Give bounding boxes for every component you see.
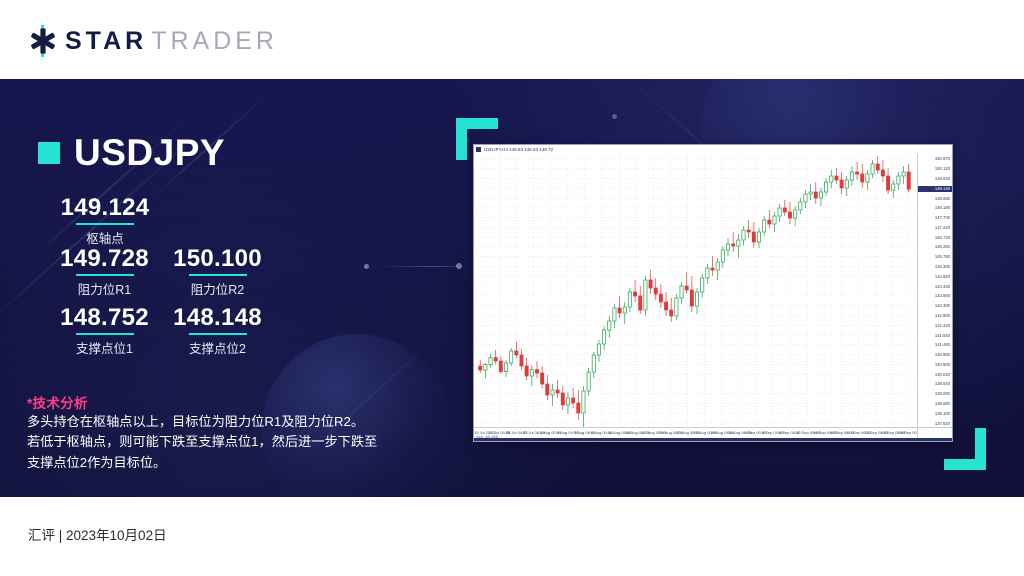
logo-accent-dot-bottom (41, 54, 44, 57)
page-header: STAR TRADER (0, 0, 1024, 79)
footer-text: 汇评 | 2023年10月02日 (28, 524, 167, 544)
price-tick-label: 143.380 (935, 303, 950, 308)
r2-label: 阻力位R2 (155, 279, 280, 298)
price-tick-label: 144.820 (935, 274, 950, 279)
brand-name-bold: STAR (65, 27, 147, 56)
chart-bottom-bar (474, 438, 952, 441)
candlestick-plot[interactable] (474, 154, 918, 428)
analysis-line-3: 支撑点位2作为目标位。 (27, 453, 407, 473)
price-tick-label: 138.100 (935, 411, 950, 416)
decor-line (378, 266, 470, 267)
current-price-value: 149.140 (935, 186, 950, 192)
level-resistance-2: 150.100 阻力位R2 (155, 246, 280, 298)
chart-title-text: USDJPY,H4 148.63 148.83 148.72 (484, 145, 553, 154)
price-tick-label: 142.900 (935, 313, 950, 318)
price-tick-label: 142.420 (935, 323, 950, 328)
r2-underline (189, 274, 247, 276)
price-tick-label: 145.300 (935, 264, 950, 269)
price-tick-label: 143.860 (935, 293, 950, 298)
r1-label: 阻力位R1 (42, 279, 167, 298)
s1-underline (76, 333, 134, 335)
r1-value: 149.728 (42, 246, 167, 271)
price-tick-label: 150.670 (935, 156, 950, 161)
price-tick-label: 149.640 (935, 176, 950, 181)
candlestick-svg (474, 154, 918, 428)
analysis-line-2: 若低于枢轴点，则可能下跌至支撑点位1，然后进一步下跌至 (27, 432, 407, 452)
price-tick-label: 139.060 (935, 391, 950, 396)
level-support-1: 148.752 支撑点位1 (42, 305, 167, 357)
currency-pair-heading: USDJPY (38, 134, 225, 171)
price-tick-label: 140.500 (935, 362, 950, 367)
analysis-body: 多头持仓在枢轴点以上，目标位为阻力位R1及阻力位R2。 若低于枢轴点，则可能下跌… (27, 412, 407, 473)
chart-titlebar: USDJPY,H4 148.63 148.83 148.72 (474, 145, 952, 154)
page-footer: 汇评 | 2023年10月02日 (0, 497, 1024, 576)
pair-symbol: USDJPY (74, 134, 225, 171)
level-pivot: 149.124 枢轴点 (50, 195, 160, 247)
brand-wordmark: STAR TRADER (65, 27, 278, 56)
bracket-arm-vertical (975, 428, 986, 470)
chart-body: 150.670150.120149.640149.160148.680148.1… (474, 154, 952, 441)
price-tick-label: 141.460 (935, 342, 950, 347)
slide-root: STAR TRADER USDJPY 149.124 枢轴点 149.728 阻 (0, 0, 1024, 576)
s2-value: 148.148 (155, 305, 280, 330)
current-price-tag: 149.140 (918, 186, 952, 192)
price-tick-label: 144.340 (935, 284, 950, 289)
price-tick-label: 146.740 (935, 235, 950, 240)
price-tick-label: 141.940 (935, 333, 950, 338)
price-tick-label: 145.780 (935, 254, 950, 259)
price-tick-label: 150.120 (935, 166, 950, 171)
pivot-underline (76, 223, 134, 225)
pair-marker-square (38, 142, 60, 164)
s2-label: 支撑点位2 (155, 338, 280, 357)
price-tick-label: 138.580 (935, 401, 950, 406)
level-support-2: 148.148 支撑点位2 (155, 305, 280, 357)
chart-window[interactable]: USDJPY,H4 148.63 148.83 148.72 150.67015… (473, 144, 953, 442)
s1-value: 148.752 (42, 305, 167, 330)
price-tick-label: 137.620 (935, 421, 950, 426)
analysis-line-1: 多头持仓在枢轴点以上，目标位为阻力位R1及阻力位R2。 (27, 412, 407, 432)
logo-accent-dot-top (41, 25, 44, 28)
pivot-value: 149.124 (50, 195, 160, 220)
brand-logo: STAR TRADER (28, 25, 278, 57)
price-tick-label: 148.180 (935, 205, 950, 210)
price-tick-label: 146.260 (935, 244, 950, 249)
price-tick-label: 140.020 (935, 372, 950, 377)
price-tick-label: 140.980 (935, 352, 950, 357)
level-resistance-1: 149.728 阻力位R1 (42, 246, 167, 298)
analysis-heading: *技术分析 (27, 392, 88, 412)
brand-name-light: TRADER (151, 27, 278, 56)
time-tick-label: 28 Sep 00:00 (898, 430, 918, 436)
decor-dot (612, 114, 617, 119)
s2-underline (189, 333, 247, 335)
s1-label: 支撑点位1 (42, 338, 167, 357)
asterisk-star-glyph (28, 26, 58, 56)
asterisk-star-icon (28, 26, 58, 56)
price-tick-label: 147.700 (935, 215, 950, 220)
price-tick-label: 139.540 (935, 381, 950, 386)
price-tick-label: 147.220 (935, 225, 950, 230)
bracket-arm-vertical (456, 118, 467, 160)
price-tick-label: 148.680 (935, 196, 950, 201)
decor-dot (364, 264, 369, 269)
chart-window-icon (476, 147, 481, 152)
r2-value: 150.100 (155, 246, 280, 271)
r1-underline (76, 274, 134, 276)
price-axis[interactable]: 150.670150.120149.640149.160148.680148.1… (917, 154, 952, 428)
